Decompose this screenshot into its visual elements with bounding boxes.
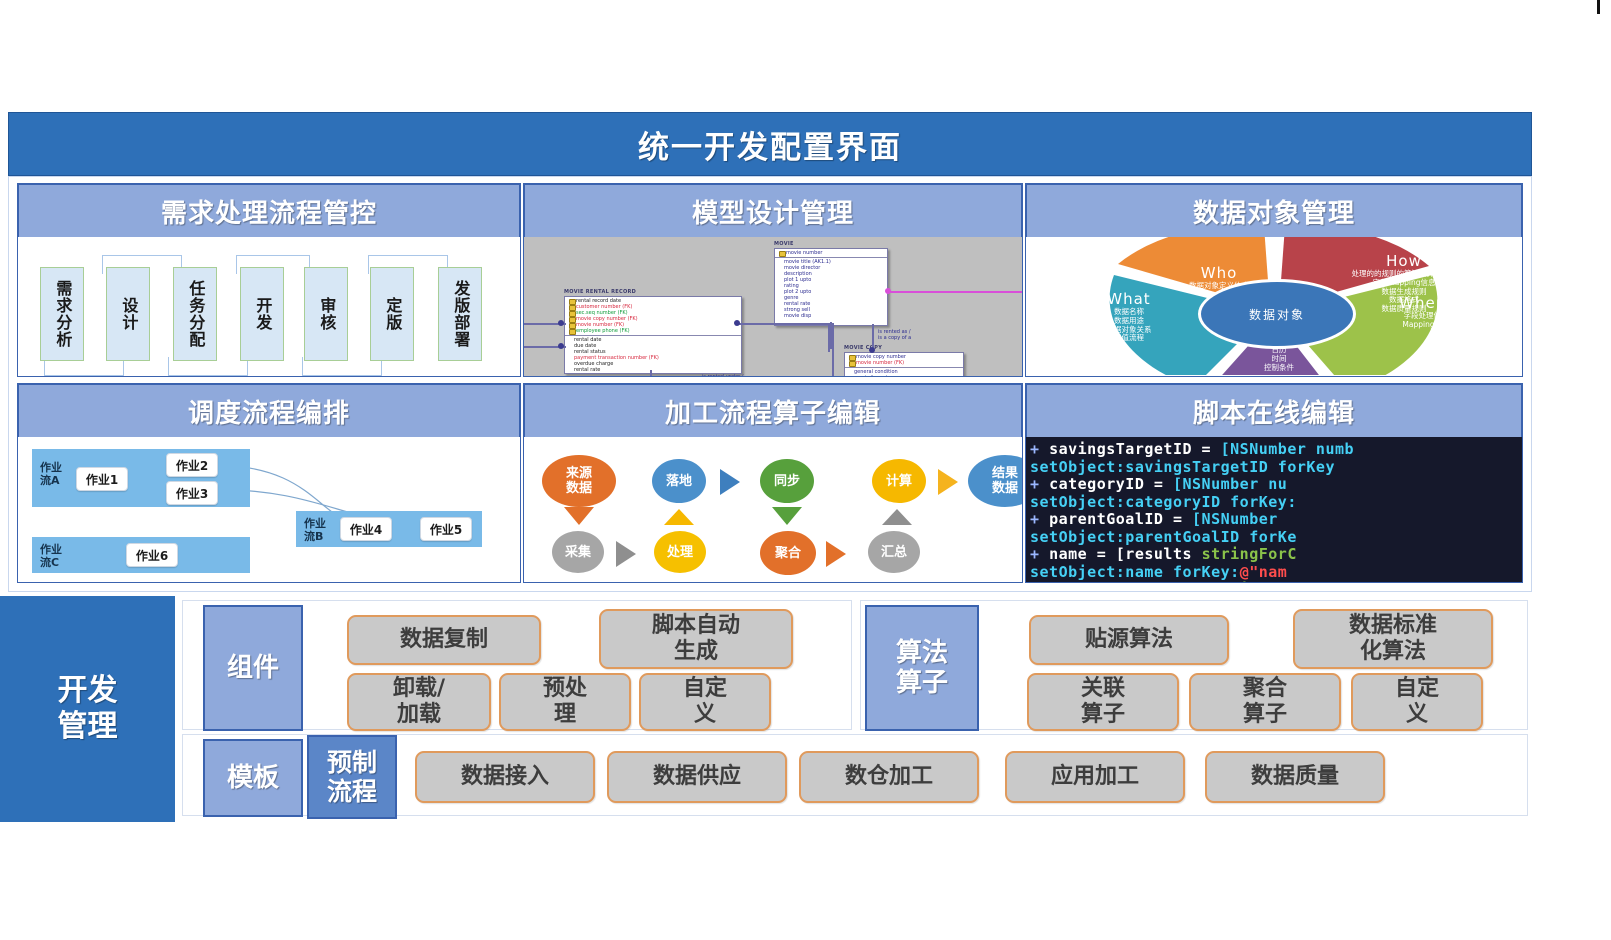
code-token: + [1030,580,1049,582]
code-token: = [1163,510,1192,528]
category-components[interactable]: 组件 [203,605,303,731]
flow-node-label: 审核 [318,297,335,331]
flow-node-label: 需求分析 [54,280,71,348]
category-label: 预制 流程 [327,748,377,806]
category-template[interactable]: 模板 [203,739,303,817]
flow-node[interactable]: 设计 [106,267,150,361]
flow-node-label: 定版 [384,297,401,331]
panel-header-script-editor[interactable]: 脚本在线编辑 [1025,383,1523,439]
er-connector [830,345,832,347]
panel-body-operator-editing: 来源 数据 落地 同步 计算 结果 数据 采集 处理 聚合 汇总 [523,437,1023,583]
code-line: + categoryID = [NSNumber nu [1030,476,1522,494]
code-line: + name = [results stringForC [1030,546,1522,564]
code-line: setObject:name forKey:@"nam [1030,564,1522,582]
job-node[interactable]: 作业6 [126,543,178,567]
er-connector-highlight [888,291,1023,293]
code-token: [NSNumber numb [1221,440,1354,458]
code-token: color [1049,580,1097,582]
code-token: parentGoalID [1049,510,1163,528]
er-field: employee phone (FK) [567,328,739,334]
code-token: = [1144,475,1173,493]
code-token: stringForC [1202,545,1297,563]
er-connector-dot [885,288,891,294]
algorithm-chip-standardization-algorithm[interactable]: 数据标准 化算法 [1293,609,1493,669]
panel-script-editor: 脚本在线编辑 + savingsTargetID = [NSNumber num… [1025,383,1523,583]
components-group-panel: 组件 数据复制 脚本自动 生成 卸载/ 加载 预处 理 自定 义 [182,600,852,730]
template-chip-warehouse-processing[interactable]: 数仓加工 [799,751,979,803]
er-connector [650,370,652,377]
panel-requirement-process: 需求处理流程管控 需求分析 设计 任务分配 [17,183,521,377]
arrow-up-icon [882,509,912,525]
main-header: 统一开发配置界面 [8,112,1532,176]
category-label: 模板 [227,763,279,793]
flow-node-label: 任务分配 [187,280,204,348]
arrow-down-icon [772,507,802,525]
panel-title: 数据对象管理 [1193,193,1355,230]
right-margin [1603,0,1611,940]
flow-node-label: 设计 [120,297,137,331]
er-connector-dot [558,320,564,326]
panel-title: 加工流程算子编辑 [665,393,881,430]
category-label: 组件 [227,653,279,683]
operator-compute[interactable]: 计算 [872,459,926,503]
er-field: movie format [845,375,963,377]
pie-center-label: 数据对象 [1249,306,1305,323]
script-code-area[interactable]: + savingsTargetID = [NSNumber numbsetObj… [1026,437,1522,582]
code-token: [NSNumber [1192,510,1278,528]
flow-node[interactable]: 发版部署 [438,267,482,361]
flow-node[interactable]: 定版 [370,267,414,361]
code-token: + [1030,545,1049,563]
operator-aggregate[interactable]: 聚合 [760,531,816,575]
category-algorithm-operators[interactable]: 算法 算子 [865,605,979,731]
data-object-pie-chart: Who 数据对象定义信息 What 数据名称 数据用途 数据对象关系 加值流程 … [1026,237,1522,376]
template-chip-data-quality[interactable]: 数据质量 [1205,751,1385,803]
category-preset-flow[interactable]: 预制 流程 [307,735,397,819]
operator-summary[interactable]: 汇总 [868,531,920,573]
job-label: 作业2 [176,457,208,474]
er-table-keys: movie copy number movie number (FK) [845,353,963,368]
flow-node[interactable]: 需求分析 [40,267,84,361]
panel-title: 需求处理流程管控 [161,193,377,230]
arrow-down-icon [564,507,594,525]
panel-operator-editing: 加工流程算子编辑 来源 数据 落地 同步 计算 结果 数据 采集 处理 [523,383,1023,583]
arrow-up-icon [664,509,694,525]
main-header-title: 统一开发配置界面 [638,122,902,167]
template-chip-data-supply[interactable]: 数据供应 [607,751,787,803]
panel-header-model-design[interactable]: 模型设计管理 [523,183,1023,239]
er-table-fields: rental date due date rental status payme… [565,336,741,373]
flow-node[interactable]: 任务分配 [173,267,217,361]
job-flow-a-title: 作业 流A [40,461,62,487]
code-token: + [1030,440,1049,458]
er-table-keys: rental record date customer number (FK) … [565,297,741,336]
component-chip-preprocess[interactable]: 预处 理 [499,673,631,731]
job-flow-b-title: 作业 流B [304,517,326,543]
arrow-right-icon [720,469,740,495]
code-token: categoryID [1049,475,1144,493]
operator-landing[interactable]: 落地 [652,459,706,503]
er-table-movie[interactable]: movie number movie title (AK1.1) movie d… [774,248,888,326]
er-connector [828,324,830,352]
template-chip-data-ingest[interactable]: 数据接入 [415,751,595,803]
code-token: stringFor [1211,580,1297,582]
panel-header-operator-editing[interactable]: 加工流程算子编辑 [523,383,1023,439]
algorithm-operators-group-panel: 算法 算子 贴源算法 数据标准 化算法 关联 算子 聚合 算子 自定 义 [860,600,1528,730]
code-token: setObject:parentGoalID forKe [1030,528,1297,546]
component-chip-unload-load[interactable]: 卸载/ 加载 [347,673,491,731]
er-table-movie-copy[interactable]: movie copy number movie number (FK) gene… [844,352,964,377]
job-node[interactable]: 作业5 [420,517,472,541]
category-label: 算法 算子 [896,638,948,698]
arrow-right-icon [938,469,958,495]
panel-title: 脚本在线编辑 [1193,393,1355,430]
er-table-fields: general condition movie format [845,368,963,377]
er-table-title: MOVIE COPY [844,345,882,351]
code-line: + parentGoalID = [NSNumber [1030,511,1522,529]
code-line: + savingsTargetID = [NSNumber numb [1030,441,1522,459]
component-chip-custom[interactable]: 自定 义 [639,673,771,731]
code-token: [results [1116,545,1202,563]
job-node[interactable]: 作业2 [166,453,218,477]
code-token: setObject:categoryID forKey: [1030,493,1297,511]
panel-schedule-orchestration: 调度流程编排 作业 流A 作业1 作业2 [17,383,521,583]
er-table-title: MOVIE RENTAL RECORD [564,289,636,295]
algorithm-chip-join-operator[interactable]: 关联 算子 [1027,673,1179,731]
code-token: [NSNumber nu [1173,475,1287,493]
flow-node-label: 发版部署 [452,280,469,348]
er-field: movie number (FK) [847,360,961,366]
code-token: name [1049,545,1087,563]
pie-center-hub: 数据对象 [1198,279,1356,349]
arrow-right-icon [616,541,636,567]
panel-header-schedule-orchestration[interactable]: 调度流程编排 [17,383,521,439]
er-relationship-label: is rented under /records rental of a [702,374,748,377]
template-chip-application-processing[interactable]: 应用加工 [1005,751,1185,803]
code-token: [results [1125,580,1211,582]
job-label: 作业4 [350,521,382,538]
er-diagram: MOVIE movie number movie title (AK1.1) m… [524,237,1022,376]
component-chip-script-auto-generate[interactable]: 脚本自动 生成 [599,609,793,669]
panel-data-object: 数据对象管理 [1025,183,1523,377]
flow-node-label: 开发 [254,297,271,331]
panel-body-requirement-process: 需求分析 设计 任务分配 开发 审核 定版 发版部署 [17,237,521,377]
code-token: setObject:savingsTargetID forKey [1030,458,1335,476]
job-label: 作业3 [176,485,208,502]
slide-root: 统一开发配置界面 需求处理流程管控 需求分析 [0,0,1611,940]
code-line: setObject:savingsTargetID forKey [1030,459,1522,477]
flow-node[interactable]: 审核 [304,267,348,361]
panel-header-data-object[interactable]: 数据对象管理 [1025,183,1523,239]
code-line: + color = [results stringFor [1030,581,1522,582]
er-connector-dot [869,347,875,353]
arrow-right-icon [826,541,846,567]
code-token: setObject:name forKey: [1030,563,1240,581]
er-table-fields: movie title (AK1.1) movie director descr… [775,258,887,319]
er-relationship-label: is rented as /is a copy of a [878,329,911,341]
job-node[interactable]: 作业1 [76,467,128,491]
panel-body-data-object: Who 数据对象定义信息 What 数据名称 数据用途 数据对象关系 加值流程 … [1025,237,1523,377]
flow-node[interactable]: 开发 [240,267,284,361]
top-right-marker [1597,0,1600,14]
code-token: + [1030,475,1049,493]
operator-result-data[interactable]: 结果 数据 [968,455,1023,507]
development-management-text: 开发 管理 [58,673,118,745]
panel-title: 模型设计管理 [692,193,854,230]
er-field: movie disp [775,313,887,319]
er-table-keys: movie number [775,249,887,258]
er-connector [738,323,834,325]
panel-model-design: 模型设计管理 MOVIE movie number movie title (A… [523,183,1023,377]
panel-title: 调度流程编排 [188,393,350,430]
er-connector [830,322,832,324]
er-connector [832,323,834,377]
algorithm-chip-aggregate-operator[interactable]: 聚合 算子 [1189,673,1341,731]
development-management-section: 开发 管理 组件 数据复制 脚本自动 生成 卸载/ 加载 预处 理 自定 义 算… [0,596,1530,822]
er-connector-dot [558,343,564,349]
job-flow-c-title: 作业 流C [40,543,62,569]
algorithm-chip-source-algorithm[interactable]: 贴源算法 [1029,615,1229,665]
er-table-title: MOVIE [774,241,794,247]
operator-sync[interactable]: 同步 [760,459,814,503]
panel-body-schedule-orchestration: 作业 流A 作业1 作业2 作业3 作业 流B 作业4 作业5 [17,437,521,583]
component-chip-data-replication[interactable]: 数据复制 [347,615,541,665]
code-line: setObject:categoryID forKey: [1030,494,1522,512]
job-node[interactable]: 作业4 [340,517,392,541]
template-group-panel: 模板 预制 流程 数据接入 数据供应 数仓加工 应用加工 数据质量 [182,734,1528,816]
operator-process[interactable]: 处理 [654,531,706,573]
job-node[interactable]: 作业3 [166,481,218,505]
code-token: = [1192,440,1221,458]
er-field: rental rate [565,367,741,373]
operator-source-data[interactable]: 来源 数据 [542,455,616,507]
job-label: 作业1 [86,471,118,488]
code-token: savingsTargetID [1049,440,1192,458]
er-table-movie-rental-record[interactable]: rental record date customer number (FK) … [564,296,742,374]
job-label: 作业5 [430,521,462,538]
operator-collect[interactable]: 采集 [552,531,604,573]
algorithm-chip-custom[interactable]: 自定 义 [1351,673,1483,731]
er-connector-dot [734,320,740,326]
code-line: setObject:parentGoalID forKe [1030,529,1522,547]
panel-body-model-design: MOVIE movie number movie title (AK1.1) m… [523,237,1023,377]
capability-panels-frame: 需求处理流程管控 需求分析 设计 任务分配 [8,176,1532,592]
er-field: movie number [777,250,885,256]
code-token: = [1097,580,1126,582]
job-label: 作业6 [136,547,168,564]
requirement-flow-diagram: 需求分析 设计 任务分配 开发 审核 定版 发版部署 [18,237,520,376]
code-token: @"nam [1240,563,1288,581]
development-management-label: 开发 管理 [0,596,175,822]
panel-header-requirement-process[interactable]: 需求处理流程管控 [17,183,521,239]
code-token: = [1087,545,1116,563]
code-token: + [1030,510,1049,528]
panel-body-script-editor: + savingsTargetID = [NSNumber numbsetObj… [1025,437,1523,583]
